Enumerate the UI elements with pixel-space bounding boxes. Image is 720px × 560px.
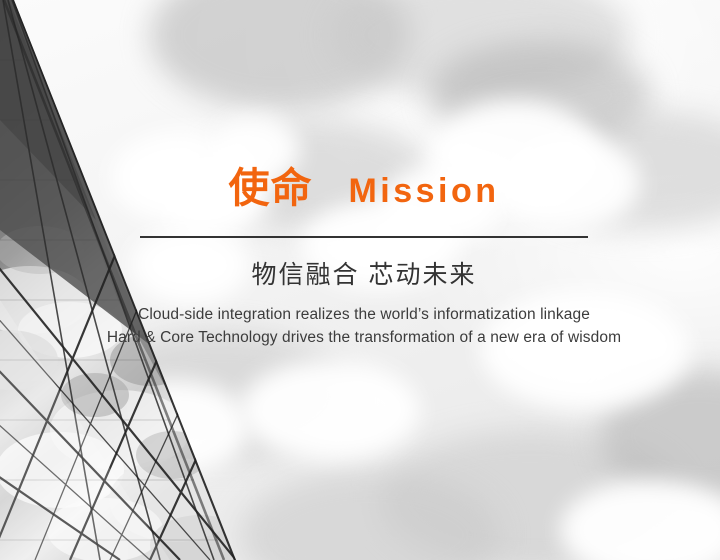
heading-divider: [140, 236, 588, 238]
heading-chinese: 使命: [228, 168, 312, 209]
subtitle-chinese: 物信融合 芯动未来: [140, 259, 588, 292]
subtitle-english-line-1: Cloud-side integration realizes the worl…: [60, 303, 668, 326]
mission-hero-banner: 使命 Mission 物信融合 芯动未来 Cloud-side integrat…: [0, 0, 720, 560]
subtitle-english-line-2: Hard & Core Technology drives the transf…: [60, 326, 668, 349]
hero-heading: 使命 Mission: [140, 168, 588, 209]
heading-english: Mission: [348, 174, 499, 208]
subtitle-english: Cloud-side integration realizes the worl…: [60, 303, 668, 349]
hero-text-block: 使命 Mission 物信融合 芯动未来 Cloud-side integrat…: [0, 0, 720, 560]
